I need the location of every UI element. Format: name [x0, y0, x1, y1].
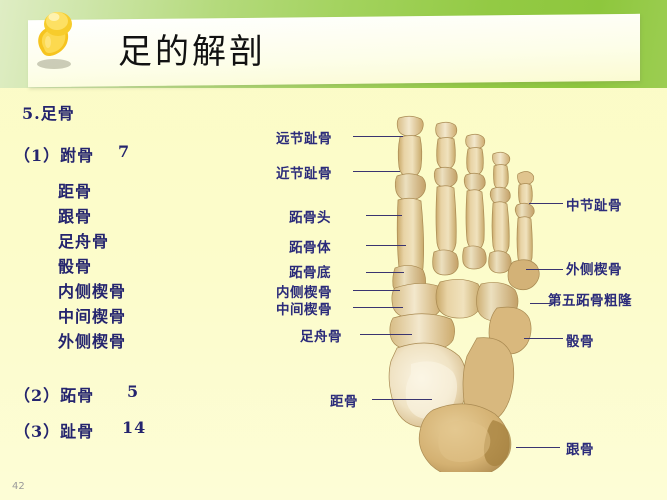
leader-line-metatarsal-base — [366, 272, 404, 273]
figure-label-metatarsal-body: 跖骨体 — [289, 236, 331, 256]
figure-label-lateral-cuneiform: 外侧楔骨 — [566, 258, 622, 278]
leader-line-metatarsal-head — [366, 215, 402, 216]
figure-label-fifth-metatarsal-tuberosity: 第五跖骨粗隆 — [548, 289, 632, 309]
figure-label-metatarsal-base: 跖骨底 — [289, 261, 331, 281]
figure-label-distal-phalanx: 远节趾骨 — [276, 127, 332, 147]
outline-group-phalanx-label: （3）趾骨 — [14, 418, 94, 442]
leader-line-talus — [372, 399, 432, 400]
outline-group-tarsal-label: （1）跗骨 — [14, 142, 94, 166]
pushpin-icon — [24, 2, 80, 72]
figure-label-intermediate-cuneiform: 中间楔骨 — [276, 298, 332, 318]
tarsal-bone-item-intermediate-cuneiform: 中间楔骨 — [58, 303, 126, 327]
figure-label-calcaneus: 跟骨 — [566, 438, 594, 458]
leader-line-lateral-cuneiform — [526, 269, 563, 270]
tarsal-bone-item-cuboid: 骰骨 — [58, 253, 92, 277]
figure-label-metatarsal-head: 跖骨头 — [289, 206, 331, 226]
tarsal-bone-item-medial-cuneiform: 内侧楔骨 — [58, 278, 126, 302]
leader-line-medial-cuneiform — [353, 290, 400, 291]
outline-section-heading: 5.足骨 — [22, 100, 75, 124]
foot-skeleton-figure — [385, 112, 555, 472]
tarsal-bone-item-talus: 距骨 — [58, 178, 92, 202]
outline-group-tarsal-count: 7 — [118, 142, 130, 161]
tarsal-bone-item-lateral-cuneiform: 外侧楔骨 — [58, 328, 126, 352]
outline-group-metatarsal-label: （2）跖骨 — [14, 382, 94, 406]
figure-label-navicular: 足舟骨 — [300, 325, 342, 345]
figure-label-middle-phalanx: 中节趾骨 — [566, 194, 622, 214]
leader-line-navicular — [360, 334, 412, 335]
outline-group-metatarsal-count: 5 — [127, 382, 139, 401]
page-number: 42 — [12, 481, 25, 492]
leader-line-intermediate-cuneiform — [353, 307, 403, 308]
figure-label-cuboid: 骰骨 — [566, 330, 594, 350]
page-title: 足的解剖 — [118, 24, 266, 73]
tarsal-bone-item-navicular: 足舟骨 — [58, 228, 109, 252]
leader-line-distal-phalanx — [353, 136, 403, 137]
leader-line-calcaneus — [516, 447, 560, 448]
figure-label-talus: 距骨 — [330, 390, 358, 410]
tarsal-bone-item-calcaneus: 跟骨 — [58, 203, 92, 227]
leader-line-proximal-phalanx — [353, 171, 400, 172]
figure-label-proximal-phalanx: 近节趾骨 — [276, 162, 332, 182]
leader-line-middle-phalanx — [529, 203, 563, 204]
leader-line-metatarsal-body — [366, 245, 406, 246]
slide-canvas: 足的解剖 5.足骨 （1）跗骨 7 距骨 跟骨 足舟骨 骰骨 内侧楔骨 中间楔骨… — [0, 0, 667, 500]
outline-group-phalanx-count: 14 — [122, 418, 146, 437]
leader-line-cuboid — [524, 338, 563, 339]
